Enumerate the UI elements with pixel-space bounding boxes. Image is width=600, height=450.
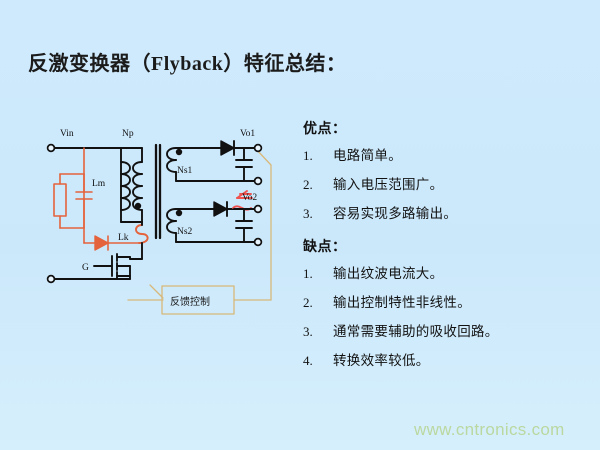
list-item-text: 电路简单。 xyxy=(333,144,402,164)
site-watermark: www.cntronics.com xyxy=(414,420,565,440)
vo1-terminal-positive xyxy=(255,145,262,152)
list-item: 4. 转换效率较低。 xyxy=(303,349,583,369)
vo1-terminal-negative xyxy=(255,178,262,185)
list-item-number: 2. xyxy=(303,295,333,311)
list-item-number: 1. xyxy=(303,148,333,164)
label-ns2: Ns2 xyxy=(177,227,193,237)
clamp-diode xyxy=(84,236,139,250)
ns2-rectifier-diode xyxy=(208,202,234,216)
label-gate: G xyxy=(82,263,89,273)
vo2-terminal-positive xyxy=(255,206,262,213)
list-item: 3. 通常需要辅助的吸收回路。 xyxy=(303,320,583,340)
list-item-text: 转换效率较低。 xyxy=(333,349,430,369)
circuit-diagram: Vin Np Lm Lk G Ns1 Ns2 Vo1 Vo2 反馈控制 xyxy=(38,118,294,333)
label-lk: Lk xyxy=(118,233,129,243)
label-feedback-block: 反馈控制 xyxy=(170,295,210,308)
vo2-terminal-negative xyxy=(255,239,262,246)
vin-terminal-positive xyxy=(48,145,55,152)
list-item-number: 3. xyxy=(303,206,333,222)
list-item-text: 容易实现多路输出。 xyxy=(333,202,457,222)
list-item-text: 通常需要辅助的吸收回路。 xyxy=(333,320,499,340)
list-item: 1. 输出纹波电流大。 xyxy=(303,262,583,282)
vin-terminal-negative xyxy=(48,276,55,283)
np-polarity-dot xyxy=(135,203,141,209)
list-item: 3. 容易实现多路输出。 xyxy=(303,202,583,222)
list-item-number: 2. xyxy=(303,177,333,193)
ns1-polarity-dot xyxy=(176,149,182,155)
label-lm: Lm xyxy=(92,179,106,189)
slide-canvas: 反激变换器（Flyback）特征总结： xyxy=(0,0,600,450)
label-ns1: Ns1 xyxy=(177,166,193,176)
list-item-number: 3. xyxy=(303,324,333,340)
list-item-number: 1. xyxy=(303,266,333,282)
snubber-network xyxy=(54,148,92,243)
ns1-output-capacitor xyxy=(236,148,252,181)
disadvantages-list: 1. 输出纹波电流大。 2. 输出控制特性非线性。 3. 通常需要辅助的吸收回路… xyxy=(303,262,583,369)
list-item: 2. 输入电压范围广。 xyxy=(303,173,583,193)
advantages-list: 1. 电路简单。 2. 输入电压范围广。 3. 容易实现多路输出。 xyxy=(303,144,583,222)
mosfet-switch xyxy=(94,254,130,279)
label-vo2: Vo2 xyxy=(242,193,257,203)
label-np: Np xyxy=(122,129,134,139)
ns2-polarity-dot xyxy=(176,210,182,216)
list-item-number: 4. xyxy=(303,353,333,369)
list-item-text: 输入电压范围广。 xyxy=(333,173,443,193)
transformer-core xyxy=(156,145,160,238)
advantages-heading: 优点： xyxy=(303,118,583,138)
list-item: 2. 输出控制特性非线性。 xyxy=(303,291,583,311)
list-item-text: 输出纹波电流大。 xyxy=(333,262,443,282)
primary-winding-np xyxy=(121,148,142,222)
ns2-output-capacitor xyxy=(236,209,252,242)
snubber-resistor xyxy=(54,184,66,216)
page-title: 反激变换器（Flyback）特征总结： xyxy=(28,47,346,76)
ns1-rectifier-diode xyxy=(208,141,255,155)
label-vo1: Vo1 xyxy=(240,129,255,139)
label-vin: Vin xyxy=(60,129,74,139)
list-item: 1. 电路简单。 xyxy=(303,144,583,164)
list-item-text: 输出控制特性非线性。 xyxy=(333,291,471,311)
disadvantages-heading: 缺点： xyxy=(303,236,583,256)
feedback-wire xyxy=(128,148,271,300)
summary-text-column: 优点： 1. 电路简单。 2. 输入电压范围广。 3. 容易实现多路输出。 缺点… xyxy=(303,118,583,378)
lk-inductor xyxy=(136,225,148,243)
